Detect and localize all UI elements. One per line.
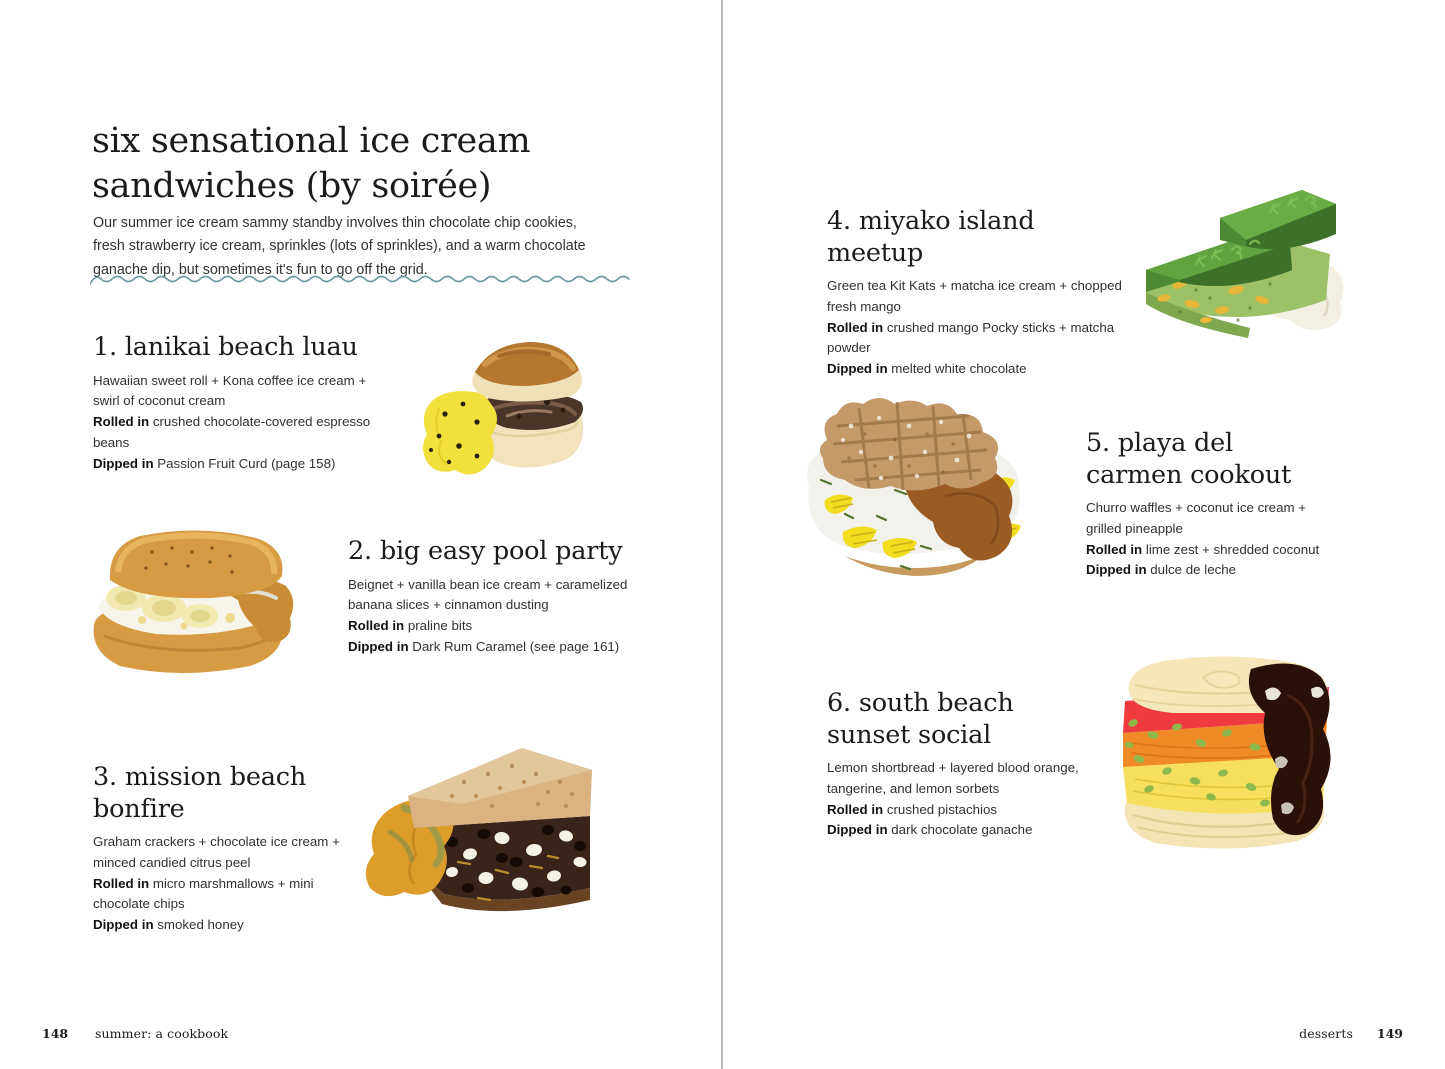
recipe-title: 1. lanikai beach luau — [93, 332, 383, 364]
recipe-details: Hawaiian sweet roll + Kona coffee ice cr… — [93, 371, 383, 475]
page-gutter-divider — [721, 0, 723, 1069]
dipped-in-value: Passion Fruit Curd (page 158) — [157, 456, 335, 471]
dipped-in-label: Dipped in — [348, 639, 409, 654]
green-tea-kitkat-sandwich-illustration — [1140, 178, 1355, 343]
rolled-in-value: lime zest + shredded coconut — [1146, 542, 1319, 557]
recipe-base: Hawaiian sweet roll + Kona coffee ice cr… — [93, 371, 383, 412]
recipe-rolled-in: Rolled in lime zest + shredded coconut — [1086, 540, 1336, 561]
recipe-dipped-in: Dipped in dark chocolate ganache — [827, 820, 1097, 841]
recipe-dipped-in: Dipped in smoked honey — [93, 915, 373, 936]
recipe-title: 3. mission beach bonfire — [93, 762, 373, 825]
cookbook-spread: six sensational ice cream sandwiches (by… — [0, 0, 1445, 1069]
dipped-in-label: Dipped in — [827, 822, 888, 837]
recipe-rolled-in: Rolled in crushed pistachios — [827, 800, 1097, 821]
rolled-in-label: Rolled in — [93, 876, 149, 891]
recipe-item-5: 5. playa del carmen cookout Churro waffl… — [1086, 428, 1336, 581]
recipe-base: Churro waffles + coconut ice cream + gri… — [1086, 498, 1336, 539]
recipe-details: Beignet + vanilla bean ice cream + caram… — [348, 575, 648, 658]
recipe-item-6: 6. south beach sunset social Lemon short… — [827, 688, 1097, 841]
recipe-rolled-in: Rolled in praline bits — [348, 616, 648, 637]
running-head-left: summer: a cookbook — [95, 1026, 228, 1041]
beignet-ice-cream-sandwich-illustration — [80, 520, 305, 685]
rolled-in-label: Rolled in — [348, 618, 404, 633]
recipe-dipped-in: Dipped in melted white chocolate — [827, 359, 1137, 380]
recipe-base: Beignet + vanilla bean ice cream + caram… — [348, 575, 648, 616]
churro-waffle-sandwich-illustration — [785, 396, 1035, 596]
rolled-in-label: Rolled in — [1086, 542, 1142, 557]
recipe-base: Graham crackers + chocolate ice cream + … — [93, 832, 373, 873]
rolled-in-value: praline bits — [408, 618, 472, 633]
recipe-dipped-in: Dipped in dulce de leche — [1086, 560, 1336, 581]
recipe-dipped-in: Dipped in Passion Fruit Curd (page 158) — [93, 454, 383, 475]
rolled-in-label: Rolled in — [93, 414, 149, 429]
running-head-right: desserts — [1299, 1026, 1353, 1041]
dipped-in-value: melted white chocolate — [891, 361, 1026, 376]
wavy-divider — [90, 268, 630, 294]
recipe-dipped-in: Dipped in Dark Rum Caramel (see page 161… — [348, 637, 648, 658]
recipe-details: Churro waffles + coconut ice cream + gri… — [1086, 498, 1336, 581]
recipe-rolled-in: Rolled in micro marshmallows + mini choc… — [93, 874, 373, 915]
rolled-in-value: crushed pistachios — [887, 802, 997, 817]
recipe-title: 5. playa del carmen cookout — [1086, 428, 1336, 491]
rolled-in-label: Rolled in — [827, 802, 883, 817]
recipe-details: Green tea Kit Kats + matcha ice cream + … — [827, 276, 1137, 380]
dipped-in-value: smoked honey — [157, 917, 243, 932]
page-title: six sensational ice cream sandwiches (by… — [92, 119, 612, 209]
recipe-rolled-in: Rolled in crushed chocolate-covered espr… — [93, 412, 383, 453]
dipped-in-label: Dipped in — [93, 917, 154, 932]
left-page: six sensational ice cream sandwiches (by… — [0, 0, 721, 1069]
recipe-rolled-in: Rolled in crushed mango Pocky sticks + m… — [827, 318, 1137, 359]
page-number-right: 149 — [1377, 1026, 1403, 1041]
hawaiian-roll-ice-cream-sandwich-illustration — [415, 330, 615, 490]
recipe-item-1: 1. lanikai beach luau Hawaiian sweet rol… — [93, 332, 383, 474]
recipe-title: 6. south beach sunset social — [827, 688, 1097, 751]
layered-sorbet-shortbread-sandwich-illustration — [1115, 655, 1345, 855]
dipped-in-value: Dark Rum Caramel (see page 161) — [412, 639, 619, 654]
recipe-title: 4. miyako island meetup — [827, 206, 1137, 269]
rolled-in-label: Rolled in — [827, 320, 883, 335]
recipe-title: 2. big easy pool party — [348, 536, 648, 568]
right-page: 4. miyako island meetup Green tea Kit Ka… — [723, 0, 1445, 1069]
dipped-in-label: Dipped in — [1086, 562, 1147, 577]
dipped-in-value: dark chocolate ganache — [891, 822, 1032, 837]
page-number-left: 148 — [42, 1026, 68, 1041]
recipe-details: Lemon shortbread + layered blood orange,… — [827, 758, 1097, 841]
dipped-in-label: Dipped in — [93, 456, 154, 471]
recipe-item-3: 3. mission beach bonfire Graham crackers… — [93, 762, 373, 936]
recipe-item-2: 2. big easy pool party Beignet + vanilla… — [348, 536, 648, 658]
dipped-in-label: Dipped in — [827, 361, 888, 376]
dipped-in-value: dulce de leche — [1150, 562, 1236, 577]
recipe-base: Lemon shortbread + layered blood orange,… — [827, 758, 1097, 799]
recipe-base: Green tea Kit Kats + matcha ice cream + … — [827, 276, 1137, 317]
graham-cracker-smore-sandwich-illustration — [352, 742, 592, 922]
recipe-details: Graham crackers + chocolate ice cream + … — [93, 832, 373, 936]
recipe-item-4: 4. miyako island meetup Green tea Kit Ka… — [827, 206, 1137, 380]
